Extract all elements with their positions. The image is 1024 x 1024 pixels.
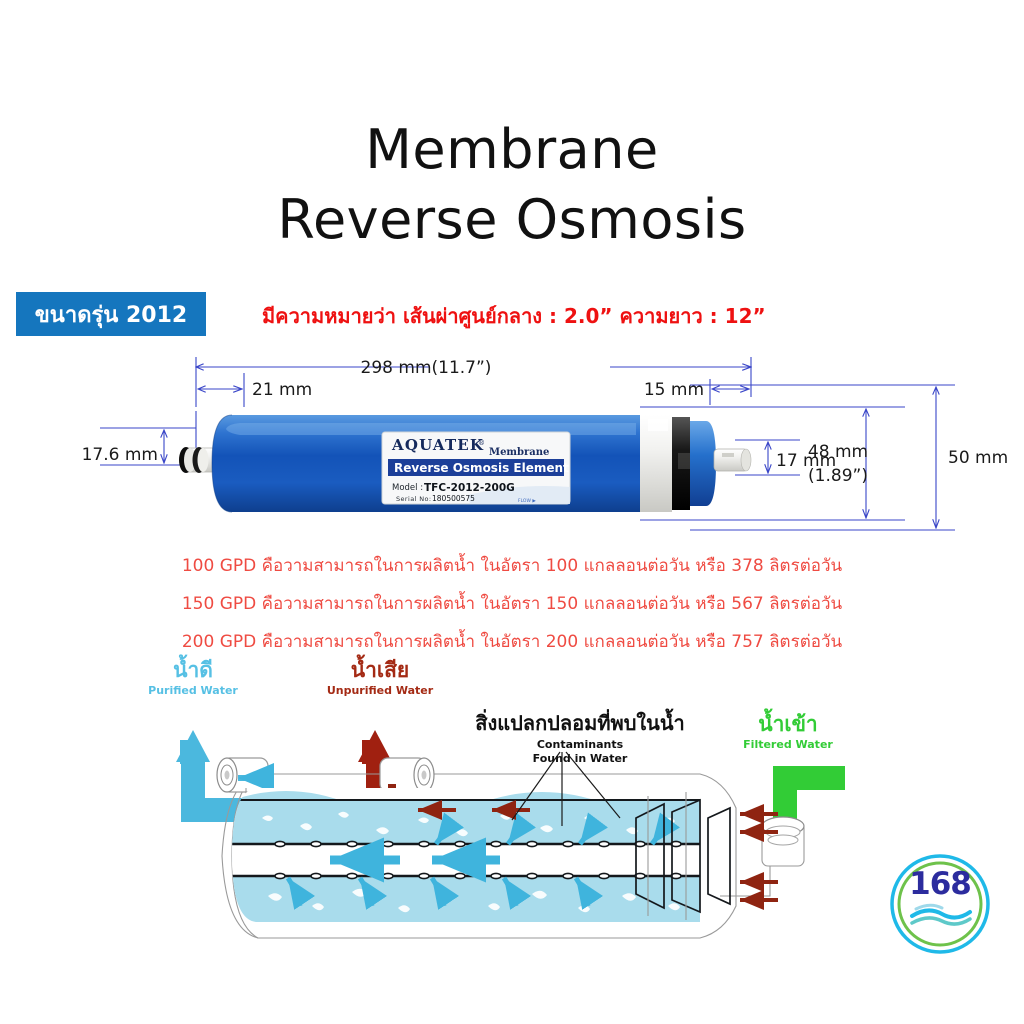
label-registered-mark: ® [478, 439, 485, 447]
label-serial-value: 180500575 [432, 494, 475, 503]
label-brand: AQUATEK [391, 436, 484, 454]
gpd-line-200: 200 GPD คือวามสามารถในการผลิตน้ำ ในอัตรา… [0, 628, 1024, 655]
dim-body-diameter-inch: (1.89”) [808, 466, 868, 486]
dim-overall-length: 298 mm(11.7”) [361, 358, 492, 378]
spec-description: มีความหมายว่า เส้นผ่าศูนย์กลาง : 2.0” คว… [262, 300, 766, 332]
dim-left-stub: 21 mm [252, 380, 312, 400]
page-title-line-1: Membrane [0, 118, 1024, 181]
dim-outer-diameter: 50 mm [948, 448, 1008, 468]
infographic-page: Membrane Reverse Osmosis ขนาดรุ่น 2012 ม… [0, 0, 1024, 1024]
wave-icon [912, 905, 970, 924]
label-purified-water: น้ำดี Purified Water [118, 658, 268, 698]
dim-left-tube-diameter: 17.6 mm [82, 445, 158, 465]
label-purified-water-th: น้ำดี [118, 658, 268, 682]
label-unpurified-water-th: น้ำเสีย [300, 658, 460, 682]
port-fitting-inlet [720, 817, 804, 896]
label-unpurified-water-en: Unpurified Water [300, 685, 460, 698]
label-unpurified-water: น้ำเสีย Unpurified Water [300, 658, 460, 698]
label-model-key: Model : [392, 483, 423, 493]
label-banner: Reverse Osmosis Element [394, 461, 569, 475]
page-title-line-2: Reverse Osmosis [0, 188, 1024, 251]
label-purified-water-en: Purified Water [118, 685, 268, 698]
gpd-line-150: 150 GPD คือวามสามารถในการผลิตน้ำ ในอัตรา… [0, 590, 1024, 617]
size-model-badge: ขนาดรุ่น 2012 [16, 292, 206, 336]
label-model-value: TFC-2012-200G [424, 482, 515, 494]
membrane-cutaway-interior [222, 780, 722, 932]
label-serial-key: Serial No: [396, 495, 432, 503]
membrane-dimension-drawing: AQUATEK ® Membrane Reverse Osmosis Eleme… [0, 345, 1024, 545]
dim-body-diameter: 48 mm [808, 442, 868, 462]
dim-right-stub: 15 mm [644, 380, 704, 400]
label-brand-sub: Membrane [489, 447, 549, 458]
brand-logo-number: 168 [888, 866, 992, 902]
gpd-line-100: 100 GPD คือวามสามารถในการผลิตน้ำ ในอัตรา… [0, 552, 1024, 579]
label-flow-note: FLOW ▶ [518, 498, 536, 504]
cutaway-flow-diagram [0, 700, 1024, 1000]
